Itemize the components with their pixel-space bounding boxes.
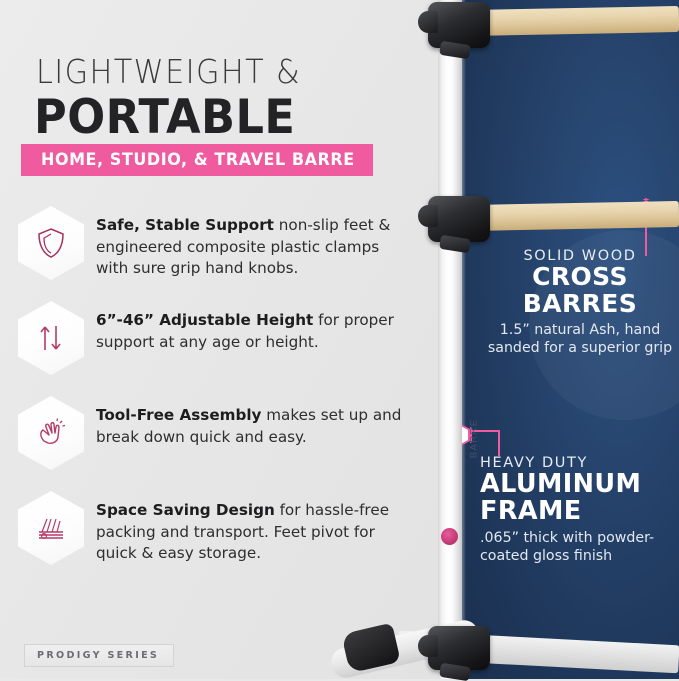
feature-lead: Space Saving Design — [96, 501, 275, 519]
barre-clamp-top — [428, 2, 490, 48]
feature-text: Safe, Stable Support non-slip feet & eng… — [96, 206, 416, 280]
subtitle-banner: HOME, STUDIO, & TRAVEL BARRE — [21, 144, 373, 176]
navy-panel-edge-highlight — [462, 0, 466, 679]
brand-logo-mark-icon — [441, 528, 458, 545]
callout-cross-barres: SOLID WOOD CROSS BARRES 1.5” natural Ash… — [486, 248, 674, 358]
feature-lead: Safe, Stable Support — [96, 216, 274, 234]
callout-leader-vertical-aluminum-frame — [498, 430, 500, 456]
feature-icon-badge — [18, 396, 84, 470]
brand-secondary-text: BARRE — [469, 419, 480, 459]
wooden-cross-barre-middle — [470, 201, 679, 231]
feature-item-adjustable-height: 6”-46” Adjustable Height for proper supp… — [18, 301, 430, 375]
wooden-cross-barre-top — [470, 6, 679, 36]
barre-clamp-middle — [428, 196, 490, 242]
feature-item-space-saving-design: Space Saving Design for hassle-free pack… — [18, 491, 430, 565]
feature-lead: Tool-Free Assembly — [96, 406, 261, 424]
subtitle-banner-text: HOME, STUDIO, & TRAVEL BARRE — [41, 150, 355, 170]
callout-title-line-2: BARRES — [486, 291, 674, 318]
brand-primary-text: VITA — [469, 462, 480, 488]
headline-line-1: LIGHTWEIGHT & — [36, 52, 301, 91]
feature-icon-badge — [18, 206, 84, 280]
feature-text: Tool-Free Assembly makes set up and brea… — [96, 396, 416, 448]
left-content-column: LIGHTWEIGHT & PORTABLE HOME, STUDIO, & T… — [0, 0, 440, 679]
shield-icon — [36, 227, 66, 259]
feature-list: Safe, Stable Support non-slip feet & eng… — [18, 206, 430, 586]
feature-item-tool-free-assembly: Tool-Free Assembly makes set up and brea… — [18, 396, 430, 470]
callout-description: 1.5” natural Ash, hand sanded for a supe… — [486, 321, 674, 358]
barre-clamp-bottom — [428, 626, 490, 670]
series-badge: PRODIGY SERIES — [24, 644, 174, 667]
feature-icon-badge — [18, 491, 84, 565]
feature-text: Space Saving Design for hassle-free pack… — [96, 491, 416, 565]
hand-icon — [35, 417, 67, 449]
callout-title-line-2: FRAME — [480, 498, 676, 525]
callout-title-line-1: ALUMINUM — [480, 471, 676, 498]
feature-item-safe-stable-support: Safe, Stable Support non-slip feet & eng… — [18, 206, 430, 280]
pole-brand-label: VITA BARRE — [469, 409, 480, 499]
up-down-arrows-icon — [36, 322, 66, 354]
callout-description: .065” thick with powder-coated gloss fin… — [480, 529, 676, 566]
feature-lead: 6”-46” Adjustable Height — [96, 311, 313, 329]
headline-line-2: PORTABLE — [34, 90, 295, 145]
aluminum-vertical-pole — [438, 0, 462, 679]
infographic-page: VITA BARRE LIGHTWEIGHT & PORTABLE HOME, … — [0, 0, 679, 679]
feature-icon-badge — [18, 301, 84, 375]
callout-aluminum-frame: HEAVY DUTY ALUMINUM FRAME .065” thick wi… — [480, 455, 676, 566]
callout-title-line-1: CROSS — [486, 264, 674, 291]
feature-text: 6”-46” Adjustable Height for proper supp… — [96, 301, 416, 353]
stacked-layers-icon — [35, 513, 67, 543]
